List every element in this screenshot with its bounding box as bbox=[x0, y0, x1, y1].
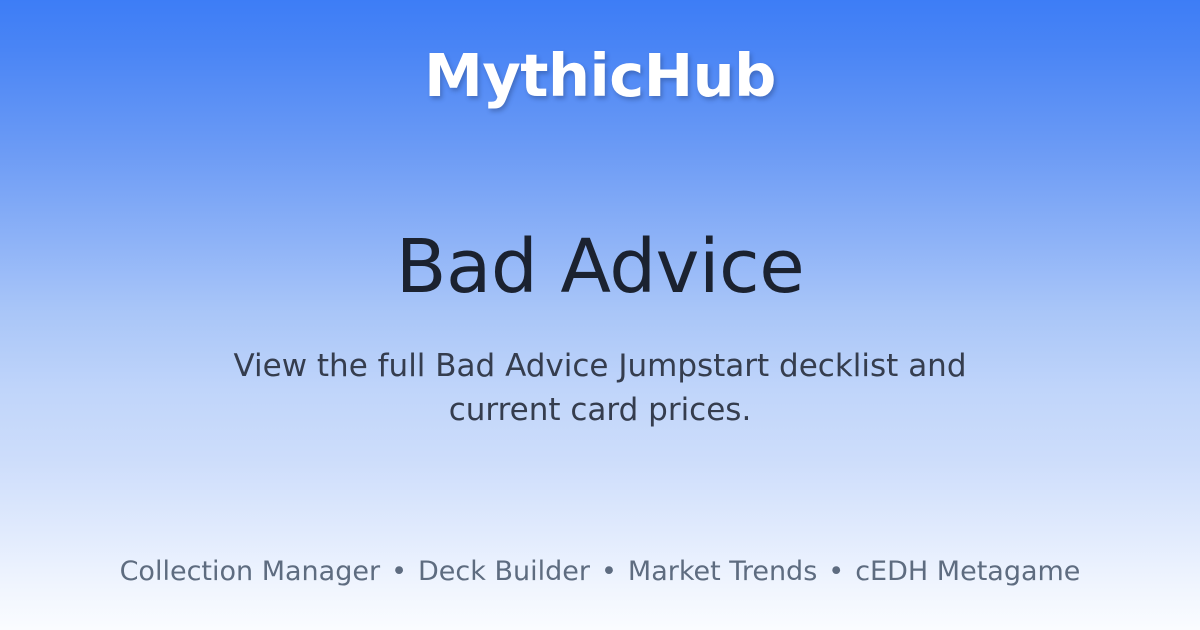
og-share-card: MythicHub Bad Advice View the full Bad A… bbox=[0, 0, 1200, 630]
page-title: Bad Advice bbox=[396, 228, 804, 308]
bullet-separator-icon: • bbox=[817, 556, 855, 588]
feature-item-collection-manager[interactable]: Collection Manager bbox=[120, 556, 380, 588]
brand-header: MythicHub bbox=[0, 0, 1200, 150]
feature-item-deck-builder[interactable]: Deck Builder bbox=[418, 556, 590, 588]
feature-item-cedh-metagame[interactable]: cEDH Metagame bbox=[855, 556, 1080, 588]
feature-item-market-trends[interactable]: Market Trends bbox=[628, 556, 817, 588]
bullet-separator-icon: • bbox=[590, 556, 628, 588]
hero-content: Bad Advice View the full Bad Advice Jump… bbox=[0, 228, 1200, 432]
footer-feature-list: Collection Manager • Deck Builder • Mark… bbox=[0, 556, 1200, 588]
bullet-separator-icon: • bbox=[380, 556, 418, 588]
brand-logo-wordmark[interactable]: MythicHub bbox=[424, 46, 776, 105]
page-subtitle: View the full Bad Advice Jumpstart deckl… bbox=[220, 344, 980, 432]
